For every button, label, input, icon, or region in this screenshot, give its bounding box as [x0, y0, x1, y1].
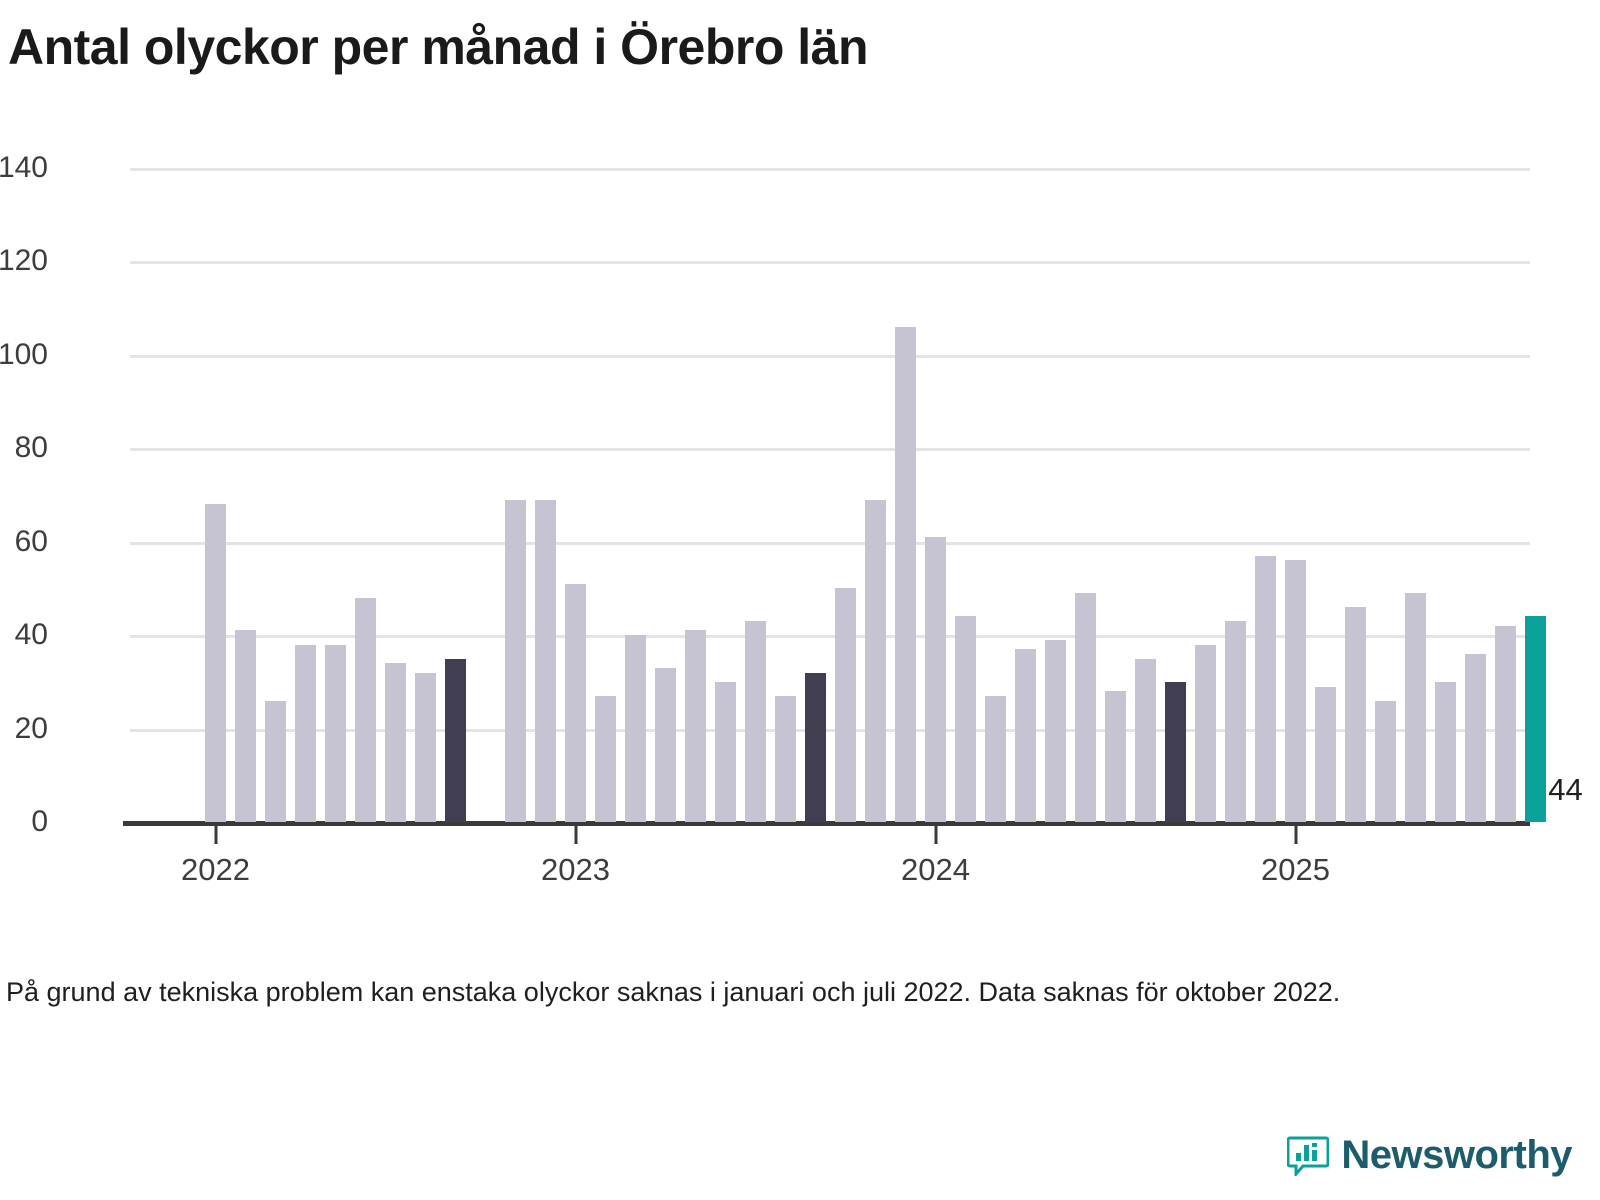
- y-axis-tick-label: 140: [0, 151, 48, 185]
- bar[interactable]: [685, 630, 706, 822]
- bar[interactable]: [1375, 701, 1396, 822]
- y-axis-tick-label: 80: [0, 431, 48, 465]
- bar[interactable]: [1195, 645, 1216, 823]
- chart-page: Antal olyckor per månad i Örebro län 020…: [0, 0, 1600, 1200]
- bar[interactable]: [865, 500, 886, 822]
- bar[interactable]: [1165, 682, 1186, 822]
- bar[interactable]: [715, 682, 736, 822]
- bar[interactable]: [895, 327, 916, 822]
- bar[interactable]: [355, 598, 376, 822]
- bar[interactable]: [925, 537, 946, 822]
- bar[interactable]: [1105, 691, 1126, 822]
- bar[interactable]: [1525, 616, 1546, 822]
- x-axis-tick-label: 2025: [1261, 852, 1330, 888]
- bar-series: 44: [130, 168, 1530, 822]
- x-axis-tick-mark: [934, 822, 937, 844]
- x-axis-ticks: 2022202320242025: [130, 822, 1530, 912]
- bar[interactable]: [1015, 649, 1036, 822]
- bar[interactable]: [235, 630, 256, 822]
- bar[interactable]: [1315, 687, 1336, 822]
- bar[interactable]: [1225, 621, 1246, 822]
- bar[interactable]: [265, 701, 286, 822]
- bar[interactable]: [205, 504, 226, 822]
- logo-wordmark: Newsworthy: [1341, 1133, 1572, 1178]
- bar[interactable]: [1345, 607, 1366, 822]
- bar-value-label: 44: [1548, 772, 1582, 808]
- bar[interactable]: [775, 696, 796, 822]
- bar[interactable]: [295, 645, 316, 823]
- x-axis-tick-mark: [214, 822, 217, 844]
- plot-area: 020406080100120140 44: [130, 168, 1530, 822]
- bar[interactable]: [505, 500, 526, 822]
- x-axis-tick-mark: [574, 822, 577, 844]
- bar[interactable]: [1435, 682, 1456, 822]
- y-axis-tick-label: 40: [0, 618, 48, 652]
- y-axis-tick-label: 0: [0, 805, 48, 839]
- bar[interactable]: [745, 621, 766, 822]
- bar[interactable]: [1465, 654, 1486, 822]
- page-title: Antal olyckor per månad i Örebro län: [8, 18, 868, 76]
- x-axis-tick-label: 2022: [181, 852, 250, 888]
- bar[interactable]: [625, 635, 646, 822]
- bar-chart-bubble-icon: [1287, 1136, 1329, 1176]
- bar[interactable]: [595, 696, 616, 822]
- y-axis-tick-label: 120: [0, 244, 48, 278]
- bar[interactable]: [835, 588, 856, 822]
- footnote: På grund av tekniska problem kan enstaka…: [6, 975, 1506, 1011]
- newsworthy-logo[interactable]: Newsworthy: [1287, 1133, 1572, 1178]
- x-axis-tick-label: 2024: [901, 852, 970, 888]
- y-axis-tick-label: 100: [0, 338, 48, 372]
- bar[interactable]: [535, 500, 556, 822]
- bar[interactable]: [1495, 626, 1516, 822]
- bar-chart: 020406080100120140 44 2022202320242025: [0, 140, 1600, 900]
- bar[interactable]: [445, 659, 466, 823]
- bar[interactable]: [415, 673, 436, 822]
- bar[interactable]: [805, 673, 826, 822]
- bar[interactable]: [1075, 593, 1096, 822]
- bar[interactable]: [1285, 560, 1306, 822]
- x-axis-tick-label: 2023: [541, 852, 610, 888]
- bar[interactable]: [1045, 640, 1066, 822]
- bar[interactable]: [1255, 556, 1276, 822]
- bar[interactable]: [1405, 593, 1426, 822]
- y-axis-tick-label: 60: [0, 525, 48, 559]
- bar[interactable]: [955, 616, 976, 822]
- bar[interactable]: [1135, 659, 1156, 823]
- bar[interactable]: [985, 696, 1006, 822]
- bar[interactable]: [325, 645, 346, 823]
- y-axis-tick-label: 20: [0, 712, 48, 746]
- bar[interactable]: [565, 584, 586, 822]
- bar[interactable]: [385, 663, 406, 822]
- bar[interactable]: [655, 668, 676, 822]
- x-axis-tick-mark: [1294, 822, 1297, 844]
